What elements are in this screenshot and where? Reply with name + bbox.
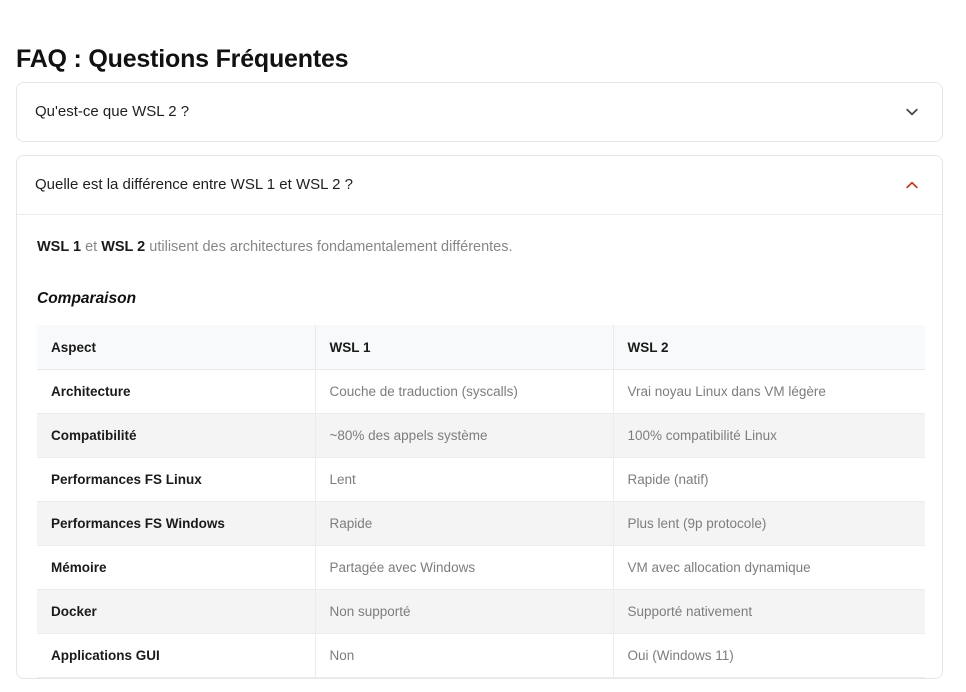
- cell-wsl2: Plus lent (9p protocole): [613, 502, 925, 546]
- cell-wsl2: 100% compatibilité Linux: [613, 414, 925, 458]
- table-header-row: Aspect WSL 1 WSL 2: [37, 325, 925, 370]
- lede-bold-wsl1: WSL 1: [37, 239, 81, 255]
- table-row: Docker Non supporté Supporté nativement: [37, 590, 925, 634]
- column-header-wsl1: WSL 1: [315, 325, 613, 370]
- faq-answer-body: WSL 1 et WSL 2 utilisent des architectur…: [17, 214, 942, 678]
- table-body: Architecture Couche de traduction (sysca…: [37, 370, 925, 678]
- page-title: FAQ : Questions Fréquentes: [16, 43, 348, 75]
- faq-header-1[interactable]: Qu'est-ce que WSL 2 ?: [17, 83, 942, 141]
- faq-page: FAQ : Questions Fréquentes Qu'est-ce que…: [0, 0, 966, 662]
- lede-conjunction: et: [81, 239, 101, 255]
- faq-header-2[interactable]: Quelle est la différence entre WSL 1 et …: [17, 156, 942, 214]
- table-row: Performances FS Windows Rapide Plus lent…: [37, 502, 925, 546]
- cell-wsl1: Non supporté: [315, 590, 613, 634]
- comparison-table: Aspect WSL 1 WSL 2 Architecture Couche d…: [37, 325, 925, 678]
- cell-wsl2: VM avec allocation dynamique: [613, 546, 925, 590]
- cell-aspect: Architecture: [37, 370, 315, 414]
- cell-wsl1: Couche de traduction (syscalls): [315, 370, 613, 414]
- cell-wsl2: Vrai noyau Linux dans VM légère: [613, 370, 925, 414]
- faq-item-1: Qu'est-ce que WSL 2 ?: [16, 82, 943, 142]
- chevron-up-icon[interactable]: [903, 176, 921, 194]
- answer-lede: WSL 1 et WSL 2 utilisent des architectur…: [37, 237, 922, 257]
- cell-aspect: Performances FS Windows: [37, 502, 315, 546]
- cell-aspect: Mémoire: [37, 546, 315, 590]
- faq-question-2: Quelle est la différence entre WSL 1 et …: [35, 175, 353, 195]
- cell-wsl2: Oui (Windows 11): [613, 634, 925, 678]
- table-row: Performances FS Linux Lent Rapide (natif…: [37, 458, 925, 502]
- cell-wsl1: Partagée avec Windows: [315, 546, 613, 590]
- table-row: Applications GUI Non Oui (Windows 11): [37, 634, 925, 678]
- column-header-wsl2: WSL 2: [613, 325, 925, 370]
- faq-accordion-list: Qu'est-ce que WSL 2 ? Quelle est la diff…: [16, 82, 943, 692]
- cell-aspect: Docker: [37, 590, 315, 634]
- faq-item-2: Quelle est la différence entre WSL 1 et …: [16, 155, 943, 679]
- table-row: Mémoire Partagée avec Windows VM avec al…: [37, 546, 925, 590]
- table-row: Compatibilité ~80% des appels système 10…: [37, 414, 925, 458]
- comparison-heading: Comparaison: [37, 289, 922, 309]
- cell-wsl1: ~80% des appels système: [315, 414, 613, 458]
- cell-wsl2: Rapide (natif): [613, 458, 925, 502]
- cell-aspect: Compatibilité: [37, 414, 315, 458]
- cell-aspect: Performances FS Linux: [37, 458, 315, 502]
- lede-tail: utilisent des architectures fondamentale…: [145, 239, 512, 255]
- cell-wsl1: Rapide: [315, 502, 613, 546]
- table-head: Aspect WSL 1 WSL 2: [37, 325, 925, 370]
- chevron-down-icon[interactable]: [903, 103, 921, 121]
- table-row: Architecture Couche de traduction (sysca…: [37, 370, 925, 414]
- faq-question-1: Qu'est-ce que WSL 2 ?: [35, 102, 189, 122]
- lede-bold-wsl2: WSL 2: [101, 239, 145, 255]
- cell-aspect: Applications GUI: [37, 634, 315, 678]
- cell-wsl1: Non: [315, 634, 613, 678]
- column-header-aspect: Aspect: [37, 325, 315, 370]
- cell-wsl1: Lent: [315, 458, 613, 502]
- cell-wsl2: Supporté nativement: [613, 590, 925, 634]
